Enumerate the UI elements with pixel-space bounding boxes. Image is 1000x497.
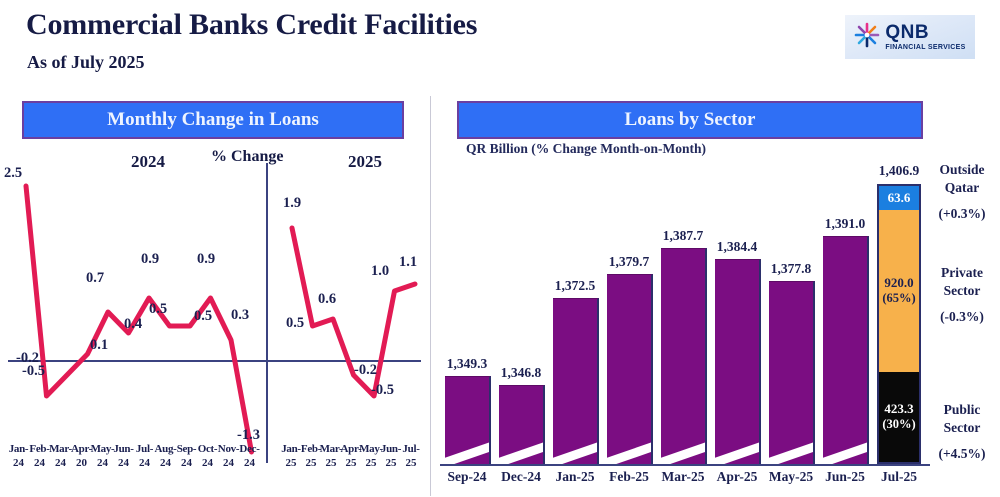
sector-legend-public-sector: Public Sector (+4.5%) [924,401,1000,464]
x-tick-month: Jul- [402,443,419,457]
x-tick-month: Jan- [281,443,301,457]
sector-legend-name2: Sector [944,283,981,298]
x-tick-month: Nov- [218,443,239,457]
x-tick-year: 25 [386,457,397,471]
bar-baseline-axis [440,464,930,466]
sector-legend-name2: Sector [944,420,981,435]
bar-slot: 1,379.7 [602,159,656,464]
sector-legend-change: (+0.3%) [924,205,1000,223]
data-label: 0.5 [149,301,167,318]
bar-value-label: 1,372.5 [540,278,610,294]
x-tick: Jul-24 [134,443,155,471]
bar[interactable] [715,259,761,464]
bar-x-tick: Jan-25 [548,469,602,485]
bar-slot: 1,387.7 [656,159,710,464]
x-tick-year: 24 [55,457,66,471]
bar-segment-value: 63.6 [888,191,911,206]
sector-legend-outside-qatar: Outside Qatar (+0.3%) [924,161,1000,224]
bar-value-label: 1,377.8 [756,261,826,277]
bar[interactable] [553,298,599,464]
x-tick-year: 24 [139,457,150,471]
data-label: 0.3 [231,307,249,324]
bar-segment-private-sector[interactable]: 920.0(65%) [879,210,919,372]
x-tick-month: Apr- [71,443,92,457]
x-tick-year: 25 [306,457,317,471]
right-panel-header: Loans by Sector [457,101,923,139]
bar-segment-share: (30%) [882,417,915,431]
bar-segment-value: 423.3 [884,402,913,417]
x-tick-year: 20 [76,457,87,471]
x-tick-year: 25 [286,457,297,471]
sector-legend-change: (-0.3%) [924,308,1000,326]
bar-value-label: 1,391.0 [810,216,880,232]
x-tick: Jul-25 [401,443,421,471]
bar-x-tick: Jun-25 [818,469,872,485]
qnb-starburst-icon [854,22,880,53]
x-tick-year: 25 [366,457,377,471]
bar[interactable] [607,274,653,464]
x-tick: May-24 [92,443,113,471]
page-subtitle: As of July 2025 [27,52,145,73]
axis-break-mark [823,437,869,464]
x-tick-year: 24 [244,457,255,471]
data-label: -0.5 [22,363,45,380]
x-tick: Feb-25 [301,443,321,471]
bar-slot: 1,377.8 [764,159,818,464]
x-tick-month: Sep- [177,443,197,457]
x-tick: Mar-24 [50,443,71,471]
stacked-bar-jul-25[interactable]: 63.6(5%)920.0(65%)423.3(30%) [877,184,921,464]
bar-x-tick: Apr-25 [710,469,764,485]
x-tick-year: 24 [34,457,45,471]
x-tick-month: Dec- [239,443,259,457]
bar-value-label: 1,379.7 [594,254,664,270]
x-tick-year: 24 [97,457,108,471]
sector-legend-name: Outside [939,162,984,177]
data-label: 1.9 [283,195,301,212]
bar[interactable] [499,385,545,464]
data-label: 2.5 [4,165,22,182]
axis-break-mark [607,437,653,464]
data-label: 1.0 [371,263,389,280]
bar-slot: 1,346.8 [494,159,548,464]
bar-x-tick: Jul-25 [872,469,926,485]
x-axis-2024: Jan-24Feb-24Mar-24Apr-20May-24Jun-24Jul-… [8,443,260,471]
sector-legend-name: Private [941,265,983,280]
sector-legend-name: Public [944,402,981,417]
bar-x-tick: Mar-25 [656,469,710,485]
x-tick-month: Mar- [49,443,72,457]
data-label: 0.5 [286,315,304,332]
axis-break-mark [715,437,761,464]
data-label: 0.4 [124,316,142,333]
x-tick: Nov-24 [218,443,239,471]
x-tick-year: 24 [223,457,234,471]
bar[interactable] [769,281,815,464]
x-tick: Jan-24 [8,443,29,471]
bar-slot: 1,349.3 [440,159,494,464]
x-tick: May-25 [361,443,381,471]
x-tick: Aug-24 [155,443,176,471]
bar-x-tick: May-25 [764,469,818,485]
x-tick-year: 25 [406,457,417,471]
data-label: 0.5 [194,308,212,325]
x-tick-month: Jan- [9,443,29,457]
bar-slot: 1,384.4 [710,159,764,464]
x-tick-month: May- [359,443,383,457]
bar-x-tick: Dec-24 [494,469,548,485]
x-tick-month: Jun- [381,443,401,457]
data-label: -0.2 [354,362,377,379]
bar-segment-value: 920.0 [884,276,913,291]
data-label: 0.6 [318,291,336,308]
x-tick-month: Feb- [29,443,49,457]
x-tick: Dec-24 [239,443,260,471]
sector-legend-name2: Qatar [945,180,980,195]
bar-segment-outside-qatar[interactable]: 63.6(5%) [879,186,919,210]
data-label: 1.1 [399,254,417,271]
data-label: 0.1 [90,337,108,354]
x-tick-month: Oct- [198,443,218,457]
panel-divider [430,96,431,496]
loans-by-sector-bar-chart: 1,349.31,346.81,372.51,379.71,387.71,384… [432,139,1000,497]
x-tick: Apr-25 [341,443,361,471]
x-tick: Sep-24 [176,443,197,471]
x-tick-year: 25 [326,457,337,471]
axis-break-mark [769,437,815,464]
bar-value-label: 1,346.8 [486,365,556,381]
left-panel-header: Monthly Change in Loans [22,101,404,139]
bar-slot: 1,391.0 [818,159,872,464]
x-tick-month: Aug- [154,443,176,457]
bar-segment-public-sector[interactable]: 423.3(30%) [879,372,919,462]
logo-tagline: FINANCIAL SERVICES [885,44,965,51]
x-tick: Jun-24 [113,443,134,471]
axis-break-mark [445,437,491,464]
x-tick-year: 24 [202,457,213,471]
x-tick: Feb-24 [29,443,50,471]
x-tick-month: May- [91,443,115,457]
x-tick-year: 24 [181,457,192,471]
bar-x-axis: Sep-24Dec-24Jan-25Feb-25Mar-25Apr-25May-… [440,469,928,485]
page-title: Commercial Banks Credit Facilities [26,8,477,42]
data-label: -1.3 [237,427,260,444]
bar-segment-share: (65%) [882,291,915,305]
bar-slot: 1,372.5 [548,159,602,464]
bar[interactable] [823,236,869,464]
logo-name: QNB [885,23,965,42]
x-tick: Oct-24 [197,443,218,471]
x-tick-year: 24 [118,457,129,471]
data-label: 0.7 [86,270,104,287]
data-label: 0.9 [197,251,215,268]
x-tick-month: Jul- [136,443,153,457]
data-label: 0.9 [141,251,159,268]
x-tick-month: Feb- [301,443,321,457]
axis-break-mark [553,437,599,464]
bar-x-tick: Feb-25 [602,469,656,485]
x-tick-year: 24 [13,457,24,471]
axis-break-mark [499,437,545,464]
x-tick: Mar-25 [321,443,341,471]
x-axis-2025: Jan-25Feb-25Mar-25Apr-25May-25Jun-25Jul-… [281,443,421,471]
x-tick: Apr-20 [71,443,92,471]
axis-break-mark [661,437,707,464]
bar[interactable] [445,376,491,464]
bar[interactable] [661,248,707,465]
x-tick: Jun-25 [381,443,401,471]
qnb-logo: QNB FINANCIAL SERVICES [845,15,975,59]
bar-x-tick: Sep-24 [440,469,494,485]
x-tick-year: 25 [346,457,357,471]
data-label: -0.5 [371,382,394,399]
x-tick-month: Mar- [320,443,343,457]
x-tick-month: Jun- [113,443,133,457]
sector-legend-private-sector: Private Sector (-0.3%) [924,264,1000,327]
bars-area: 1,349.31,346.81,372.51,379.71,387.71,384… [440,159,928,464]
bar-slot: 63.6(5%)920.0(65%)423.3(30%)1,406.9 [872,159,926,464]
sector-legend-change: (+4.5%) [924,445,1000,463]
monthly-change-line-chart: 2024 2025 % Change 2.5 -0.2 -0.5 0.1 0.7… [0,139,430,497]
bar-value-label: 1,384.4 [702,239,772,255]
x-tick-year: 24 [160,457,171,471]
x-tick: Jan-25 [281,443,301,471]
